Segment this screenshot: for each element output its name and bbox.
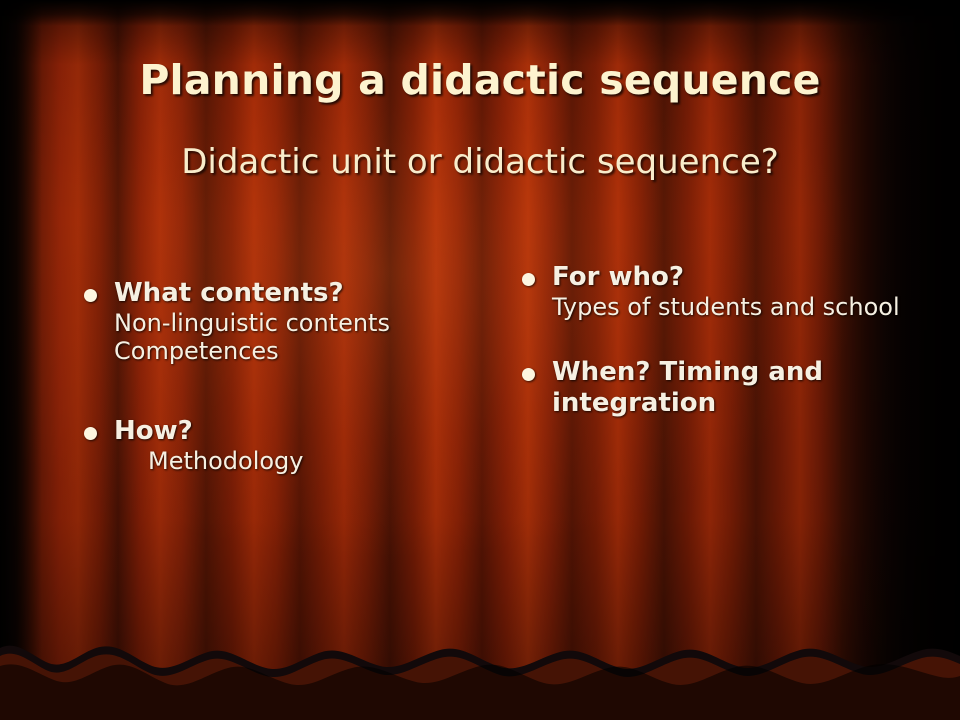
bullet-dot-icon	[84, 427, 97, 440]
bullet-item-for-who: For who? Types of students and school	[512, 262, 932, 321]
sub-line-methodology: Methodology	[114, 447, 504, 476]
bullet-label-what-contents: What contents?	[114, 278, 504, 309]
curtain-valance-icon	[0, 610, 960, 720]
top-shadow-band	[0, 0, 960, 26]
slide-subtitle: Didactic unit or didactic sequence?	[0, 142, 960, 182]
sub-line-non-linguistic-contents: Non-linguistic contents	[114, 309, 504, 338]
sub-line-competences: Competences	[114, 337, 504, 366]
sub-line-types-of-students-and-school: Types of students and school	[552, 293, 932, 322]
right-content-column: For who? Types of students and school Wh…	[512, 262, 932, 425]
bullet-item-when: When? Timing and integration	[512, 357, 932, 418]
bullet-item-what-contents: What contents? Non-linguistic contents C…	[74, 278, 504, 366]
column-spacer	[512, 327, 932, 357]
column-spacer	[74, 372, 504, 416]
bullet-item-how: How? Methodology	[74, 416, 504, 475]
bullet-label-how: How?	[114, 416, 504, 447]
bullet-label-when: When? Timing and integration	[552, 357, 932, 418]
bullet-dot-icon	[84, 289, 97, 302]
left-content-column: What contents? Non-linguistic contents C…	[74, 278, 504, 482]
bullet-label-for-who: For who?	[552, 262, 932, 293]
slide-canvas: Planning a didactic sequence Didactic un…	[0, 0, 960, 720]
page-title: Planning a didactic sequence	[0, 56, 960, 104]
bullet-dot-icon	[522, 273, 535, 286]
bullet-dot-icon	[522, 368, 535, 381]
